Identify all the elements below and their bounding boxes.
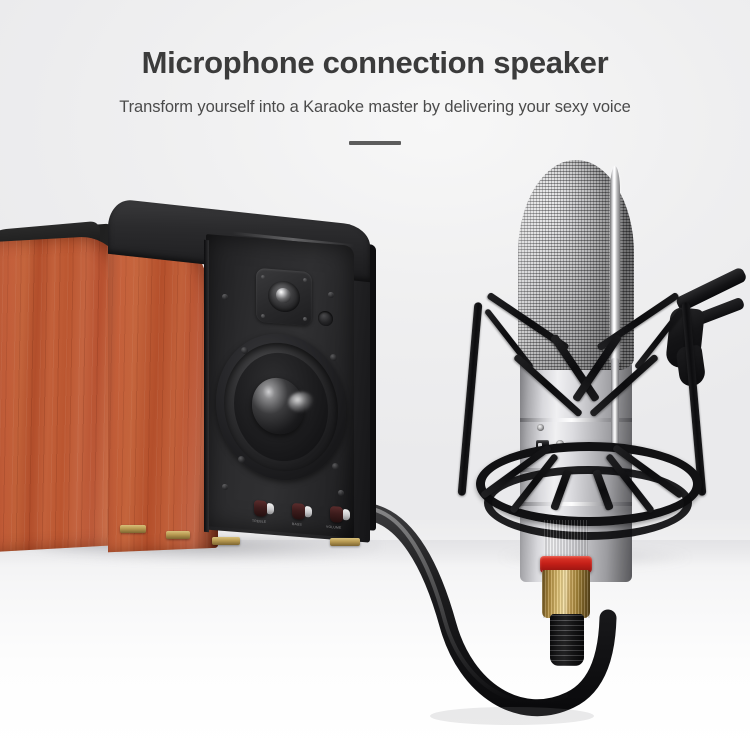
woofer-screw (238, 456, 245, 464)
strain-relief-ribs (550, 614, 584, 666)
shock-outer-bow (458, 302, 483, 496)
product-banner: Microphone connection speaker Transform … (0, 0, 750, 750)
banner-header: Microphone connection speaker Transform … (0, 0, 750, 145)
page-title: Microphone connection speaker (0, 0, 750, 81)
title-divider (349, 141, 401, 145)
woofer-screw (332, 463, 339, 471)
wood-side-panel-near (108, 230, 218, 553)
xlr-strain-relief (550, 614, 584, 666)
microphone-product (440, 150, 750, 670)
speaker-foot (330, 538, 360, 546)
xlr-connector-barrel-bottom (542, 570, 590, 618)
baffle-screw (222, 484, 228, 490)
knob-label: VOLUME (326, 525, 342, 530)
tweeter-screw (303, 317, 307, 321)
speaker-foot (120, 525, 146, 533)
knob-label: BASS (292, 522, 302, 527)
shock-mount (440, 150, 750, 550)
knob-bass[interactable] (292, 503, 305, 520)
speaker-foot (166, 531, 190, 539)
knob-volume[interactable] (330, 506, 343, 523)
xlr-knurl-texture (542, 570, 590, 618)
woofer-screw (241, 347, 248, 355)
baffle-screw (222, 294, 228, 300)
tweeter-screw (261, 275, 265, 279)
wood-sheen (108, 230, 218, 553)
baffle-screw (328, 292, 334, 298)
woofer-screw (330, 354, 337, 362)
speaker-foot (212, 537, 240, 545)
baffle-left-edge (204, 240, 209, 532)
knob-label: TREBLE (252, 519, 266, 524)
tweeter-dome (276, 287, 291, 303)
page-subtitle: Transform yourself into a Karaoke master… (0, 81, 750, 117)
baffle-screw (338, 490, 344, 496)
baffle-port-hole (318, 310, 333, 326)
knob-treble[interactable] (254, 500, 267, 517)
tweeter-screw (303, 278, 307, 282)
tweeter-screw (261, 314, 265, 318)
